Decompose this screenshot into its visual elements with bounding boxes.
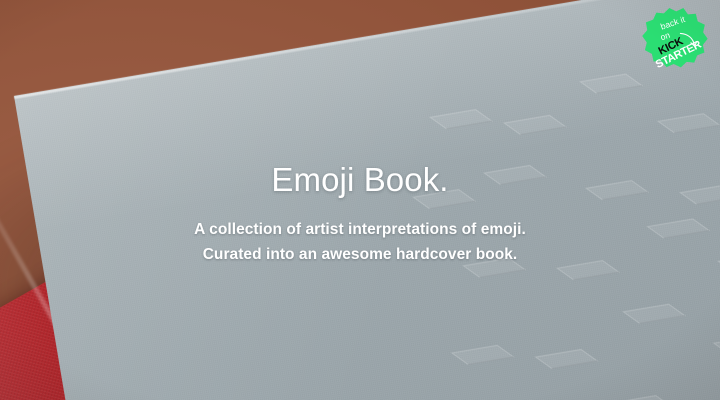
hero-subcopy: A collection of artist interpretations o… [0,217,720,267]
hero-subcopy-line-2: Curated into an awesome hardcover book. [0,242,720,267]
back-it-on-kickstarter-badge[interactable]: back it on KICK STARTER [636,1,715,80]
hero-copy: Emoji Book. A collection of artist inter… [0,162,720,267]
page-title: Emoji Book. [0,162,720,198]
hero-subcopy-line-1: A collection of artist interpretations o… [0,217,720,242]
hero-stage: Emoji Book. [0,0,720,400]
starburst-shape-icon [636,1,715,80]
